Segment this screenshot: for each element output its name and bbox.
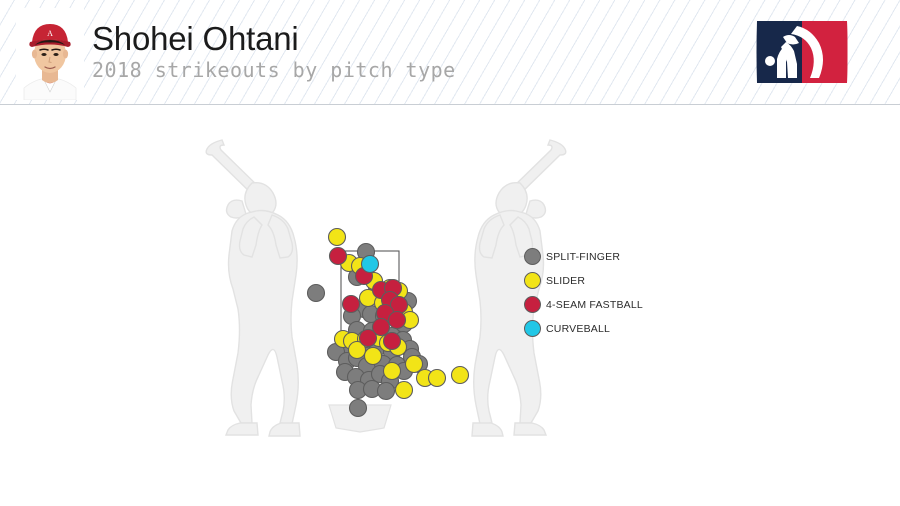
pitch-dot[interactable] bbox=[429, 370, 446, 387]
legend-swatch-slider bbox=[524, 272, 541, 289]
pitch-dot[interactable] bbox=[362, 256, 379, 273]
pitch-series-curveball bbox=[362, 256, 379, 273]
legend-item-slider[interactable]: SLIDER bbox=[524, 269, 643, 292]
page-footer: PITCH TYPES savant illustrator bbox=[0, 456, 900, 506]
pitch-dots-layer bbox=[308, 229, 469, 417]
legend-label-slider: SLIDER bbox=[546, 275, 585, 287]
legend-item-curveball[interactable]: CURVEBALL bbox=[524, 317, 643, 340]
pitch-dot[interactable] bbox=[308, 285, 325, 302]
legend-item-4-seam-fastball[interactable]: 4-SEAM FASTBALL bbox=[524, 293, 643, 316]
page-subtitle: 2018 strikeouts by pitch type bbox=[92, 58, 456, 82]
pitch-dot[interactable] bbox=[378, 383, 395, 400]
pitch-dot[interactable] bbox=[389, 312, 406, 329]
pitch-dot[interactable] bbox=[384, 363, 401, 380]
pitch-dot[interactable] bbox=[330, 248, 347, 265]
legend-item-split-finger[interactable]: SPLIT-FINGER bbox=[524, 245, 643, 268]
pitch-dot[interactable] bbox=[365, 348, 382, 365]
pitch-location-chart: SPLIT-FINGER SLIDER 4-SEAM FASTBALL CURV… bbox=[0, 105, 900, 455]
pitch-dot[interactable] bbox=[329, 229, 346, 246]
screenshot-root: A Shohei Ohtani 2018 strikeouts by pitch… bbox=[0, 0, 900, 506]
pitch-type-legend: SPLIT-FINGER SLIDER 4-SEAM FASTBALL CURV… bbox=[524, 245, 643, 341]
page-title: Shohei Ohtani bbox=[92, 21, 299, 57]
mlb-logo bbox=[753, 17, 851, 87]
pitch-dot[interactable] bbox=[343, 296, 360, 313]
pitch-dot[interactable] bbox=[452, 367, 469, 384]
player-headshot: A bbox=[16, 8, 84, 100]
headshot-image: A bbox=[16, 8, 84, 100]
legend-label-4-seam-fastball: 4-SEAM FASTBALL bbox=[546, 299, 643, 311]
chart-canvas bbox=[0, 105, 900, 455]
pitch-dot[interactable] bbox=[350, 400, 367, 417]
legend-label-split-finger: SPLIT-FINGER bbox=[546, 251, 620, 263]
page-header: A Shohei Ohtani 2018 strikeouts by pitch… bbox=[0, 0, 900, 105]
svg-text:A: A bbox=[47, 29, 53, 38]
legend-swatch-split-finger bbox=[524, 248, 541, 265]
pitch-dot[interactable] bbox=[360, 330, 377, 347]
legend-swatch-4-seam-fastball bbox=[524, 296, 541, 313]
pitch-dot[interactable] bbox=[384, 333, 401, 350]
legend-swatch-curveball bbox=[524, 320, 541, 337]
pitch-dot[interactable] bbox=[396, 382, 413, 399]
batter-silhouette-left bbox=[206, 140, 300, 436]
pitch-dot[interactable] bbox=[406, 356, 423, 373]
legend-label-curveball: CURVEBALL bbox=[546, 323, 610, 335]
